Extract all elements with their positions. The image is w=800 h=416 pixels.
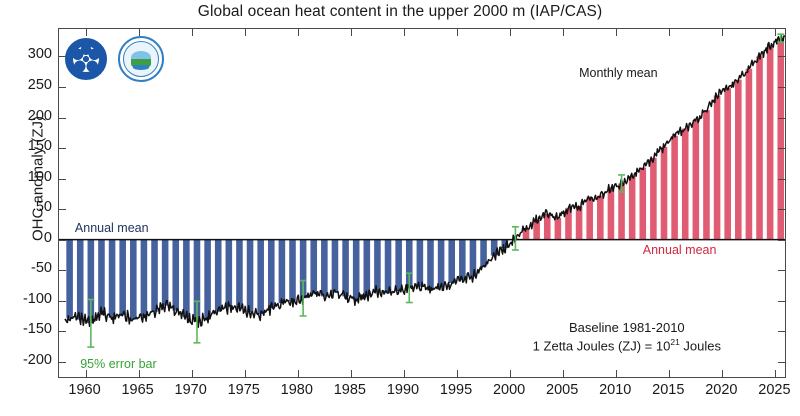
x-tick-top — [245, 29, 246, 36]
annual-bar — [332, 240, 339, 293]
x-tick — [351, 370, 352, 377]
y-tick-label: -50 — [0, 260, 52, 276]
y-tick-right — [778, 270, 785, 271]
annual-bar — [417, 240, 424, 287]
annual-bar — [374, 240, 381, 291]
y-tick-right — [778, 301, 785, 302]
annual-bar — [183, 240, 190, 318]
x-tick — [86, 370, 87, 377]
annual-bar — [257, 240, 264, 314]
plot-area: Annual meanMonthly meanAnnual mean95% er… — [58, 28, 786, 378]
x-tick-top — [669, 29, 670, 36]
annual-bar — [130, 240, 137, 320]
x-tick — [775, 370, 776, 377]
annual-bar — [109, 240, 116, 318]
x-tick — [616, 370, 617, 377]
y-tick — [59, 179, 66, 180]
iap-logo-wave — [133, 65, 149, 70]
y-tick — [59, 240, 66, 241]
units-suffix: Joules — [680, 338, 721, 353]
annual-mean-red: Annual mean — [643, 243, 717, 257]
y-tick-label: 100 — [0, 169, 52, 185]
x-tick — [245, 370, 246, 377]
y-tick-label: -200 — [0, 352, 52, 368]
x-tick-label: 2025 — [744, 382, 800, 398]
annual-bar — [703, 110, 710, 239]
y-tick-label: 300 — [0, 46, 52, 62]
annual-bar — [650, 158, 657, 240]
x-tick-label: 1970 — [161, 382, 221, 398]
annual-bar — [746, 69, 753, 240]
annual-bar — [448, 240, 455, 283]
x-tick-top — [351, 29, 352, 36]
annual-bar — [385, 240, 392, 294]
baseline-note: Baseline 1981-2010 — [569, 320, 685, 335]
annual-bar — [544, 214, 551, 240]
annual-bar — [597, 196, 604, 240]
x-tick-label: 1995 — [426, 382, 486, 398]
x-tick-top — [775, 29, 776, 36]
x-tick-label: 1980 — [267, 382, 327, 398]
y-tick — [59, 270, 66, 271]
y-tick — [59, 209, 66, 210]
x-tick-label: 2000 — [479, 382, 539, 398]
y-tick-right — [778, 362, 785, 363]
x-tick-top — [457, 29, 458, 36]
cas-logo — [65, 38, 107, 80]
x-tick-top — [139, 29, 140, 36]
x-tick-label: 1985 — [320, 382, 380, 398]
annual-bar — [459, 240, 466, 280]
units-note: 1 Zetta Joules (ZJ) = 1021 Joules — [533, 337, 721, 353]
x-tick — [298, 370, 299, 377]
annual-bar — [279, 240, 286, 303]
annual-bar — [555, 218, 562, 240]
annual-bar — [714, 96, 721, 240]
annual-bar — [639, 168, 646, 240]
annual-bar — [141, 240, 148, 317]
y-tick — [59, 362, 66, 363]
x-tick-top — [722, 29, 723, 36]
y-tick-label: 0 — [0, 230, 52, 246]
y-tick-right — [778, 179, 785, 180]
annual-mean-bars — [66, 38, 784, 323]
x-tick-label: 1960 — [55, 382, 115, 398]
y-tick-label: 250 — [0, 77, 52, 93]
cas-logo-petals — [73, 46, 99, 72]
annual-bar — [629, 176, 636, 239]
units-exponent: 21 — [670, 337, 679, 347]
y-tick-right — [778, 118, 785, 119]
y-tick-label: -100 — [0, 291, 52, 307]
annual-bar — [756, 56, 763, 239]
annual-bar — [576, 206, 583, 240]
x-tick-label: 1990 — [373, 382, 433, 398]
y-tick — [59, 331, 66, 332]
iap-logo: IAP — [118, 36, 164, 82]
error-bar-legend: 95% error bar — [80, 357, 156, 371]
annual-bar — [268, 240, 275, 308]
x-tick — [563, 370, 564, 377]
annual-mean-blue: Annual mean — [75, 221, 149, 235]
y-tick-right — [778, 87, 785, 88]
x-tick-top — [86, 29, 87, 36]
x-tick — [722, 370, 723, 377]
x-tick — [510, 370, 511, 377]
annual-bar — [767, 45, 774, 239]
y-tick-right — [778, 240, 785, 241]
x-tick-top — [510, 29, 511, 36]
annual-bar — [119, 240, 126, 316]
annual-bar — [247, 240, 254, 313]
x-tick-label: 2005 — [532, 382, 592, 398]
annual-bar — [661, 147, 668, 240]
iap-logo-ring: IAP — [123, 41, 159, 77]
monthly-mean: Monthly mean — [579, 66, 658, 80]
y-tick-right — [778, 56, 785, 57]
annual-bar — [226, 240, 233, 307]
annual-bar — [395, 240, 402, 291]
x-tick — [669, 370, 670, 377]
y-tick-label: 200 — [0, 108, 52, 124]
y-tick-label: -150 — [0, 321, 52, 337]
units-prefix: 1 Zetta Joules (ZJ) = 10 — [533, 338, 671, 353]
annual-bar — [586, 197, 593, 240]
annual-bar — [204, 240, 211, 318]
y-tick-label: 150 — [0, 138, 52, 154]
y-tick — [59, 301, 66, 302]
y-tick-right — [778, 209, 785, 210]
annual-bar — [98, 240, 105, 313]
x-tick-top — [404, 29, 405, 36]
y-tick-right — [778, 148, 785, 149]
x-tick-top — [616, 29, 617, 36]
x-tick-label: 2020 — [691, 382, 751, 398]
annual-bar — [438, 240, 445, 288]
y-tick-label: 50 — [0, 199, 52, 215]
y-tick — [59, 118, 66, 119]
annual-bar — [427, 240, 434, 291]
annual-bar — [342, 240, 349, 297]
x-tick — [139, 370, 140, 377]
x-tick — [192, 370, 193, 377]
chart-title: Global ocean heat content in the upper 2… — [0, 3, 800, 21]
x-tick — [457, 370, 458, 377]
annual-bar — [310, 240, 317, 294]
annual-bar — [66, 240, 73, 318]
figure-canvas: Global ocean heat content in the upper 2… — [0, 0, 800, 416]
x-tick-top — [192, 29, 193, 36]
annual-bar — [236, 240, 243, 309]
y-tick — [59, 87, 66, 88]
annual-bar — [162, 240, 169, 306]
x-tick — [404, 370, 405, 377]
annual-bar — [724, 88, 731, 239]
annual-bar — [215, 240, 222, 312]
annual-bar — [172, 240, 179, 311]
annual-bar — [693, 120, 700, 240]
annual-bar — [608, 187, 615, 240]
x-tick-top — [298, 29, 299, 36]
y-tick-right — [778, 331, 785, 332]
y-tick — [59, 148, 66, 149]
annual-bar — [671, 136, 678, 240]
x-tick-label: 2010 — [585, 382, 645, 398]
annual-bar — [682, 129, 689, 240]
annual-bar — [735, 80, 742, 240]
x-tick-top — [563, 29, 564, 36]
x-tick-label: 1975 — [214, 382, 274, 398]
annual-bar — [77, 240, 84, 320]
x-tick-label: 2015 — [638, 382, 698, 398]
annual-bar — [364, 240, 371, 296]
annual-bar — [151, 240, 158, 312]
annual-bar — [289, 240, 296, 301]
annual-bar — [353, 240, 360, 300]
x-tick-label: 1965 — [108, 382, 168, 398]
annual-bar — [321, 240, 328, 297]
annual-bar — [470, 240, 477, 277]
